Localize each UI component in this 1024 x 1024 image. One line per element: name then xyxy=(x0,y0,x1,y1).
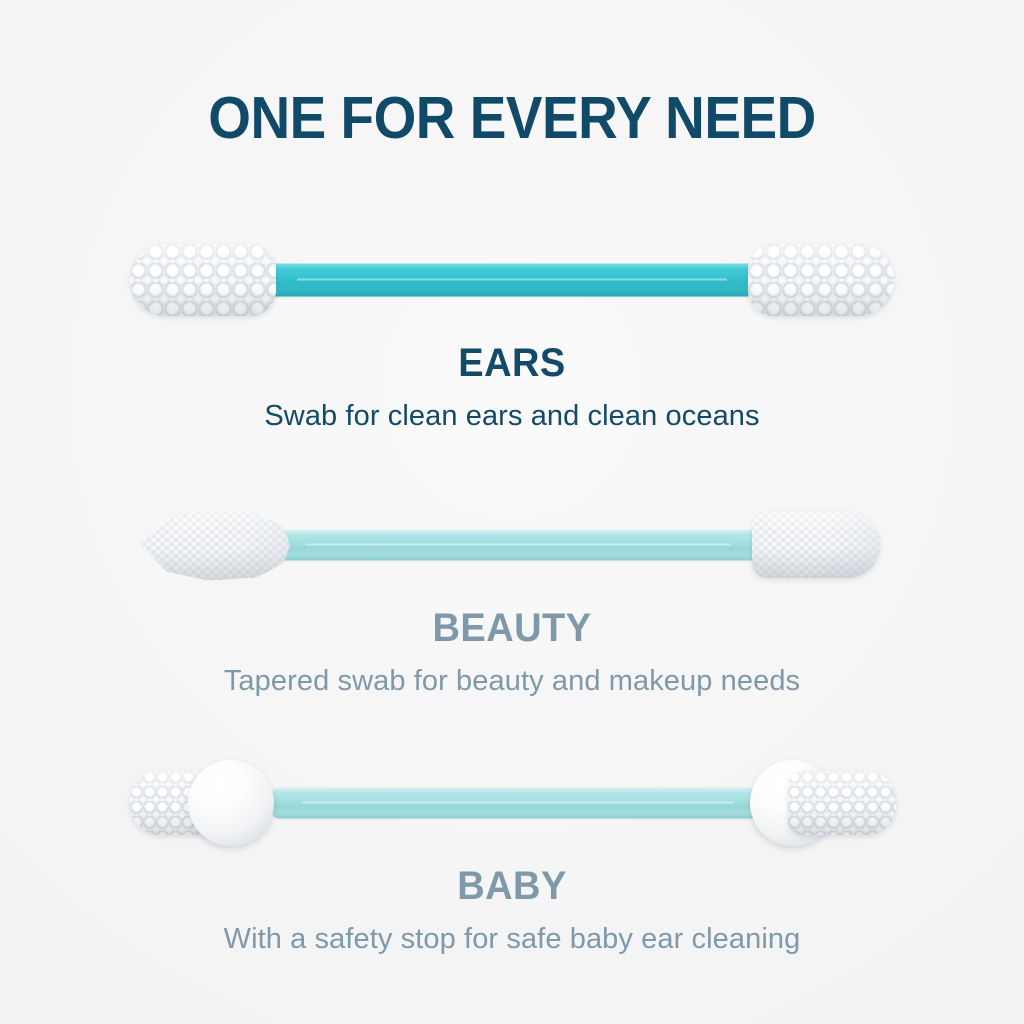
beauty-left-tip xyxy=(140,508,290,582)
dimple-texture-icon xyxy=(752,512,880,578)
description-baby: With a safety stop for safe baby ear cle… xyxy=(0,923,1024,956)
beauty-stem xyxy=(276,530,760,561)
section-beauty: BEAUTY Tapered swab for beauty and makeu… xyxy=(0,490,1024,698)
beauty-right-tip xyxy=(752,512,880,578)
product-image-beauty xyxy=(0,490,1024,600)
heading-ears: EARS xyxy=(26,341,999,386)
infographic-page: ONE FOR EVERY NEED EARS Swab for clean e… xyxy=(0,0,1024,1024)
dimple-texture-icon xyxy=(140,508,290,582)
section-baby: BABY With a safety stop for safe baby ea… xyxy=(0,748,1024,956)
ears-swab xyxy=(0,225,1024,335)
description-beauty: Tapered swab for beauty and makeup needs xyxy=(0,665,1024,698)
heading-beauty: BEAUTY xyxy=(26,606,999,651)
section-ears: EARS Swab for clean ears and clean ocean… xyxy=(0,225,1024,433)
ears-stem xyxy=(268,264,756,297)
ears-right-tip xyxy=(748,244,894,316)
baby-swab xyxy=(0,748,1024,858)
nub-texture-icon xyxy=(788,771,896,835)
baby-stem xyxy=(272,788,764,819)
product-image-baby xyxy=(0,748,1024,858)
nub-texture-icon xyxy=(748,244,894,316)
beauty-swab xyxy=(0,490,1024,600)
ears-left-tip xyxy=(130,244,276,316)
product-image-ears xyxy=(0,225,1024,335)
nub-texture-icon xyxy=(130,244,276,316)
heading-baby: BABY xyxy=(26,864,999,909)
baby-left-safety-stop xyxy=(188,760,274,846)
baby-right-tip xyxy=(788,771,896,835)
description-ears: Swab for clean ears and clean oceans xyxy=(0,400,1024,433)
page-title: ONE FOR EVERY NEED xyxy=(36,84,988,152)
